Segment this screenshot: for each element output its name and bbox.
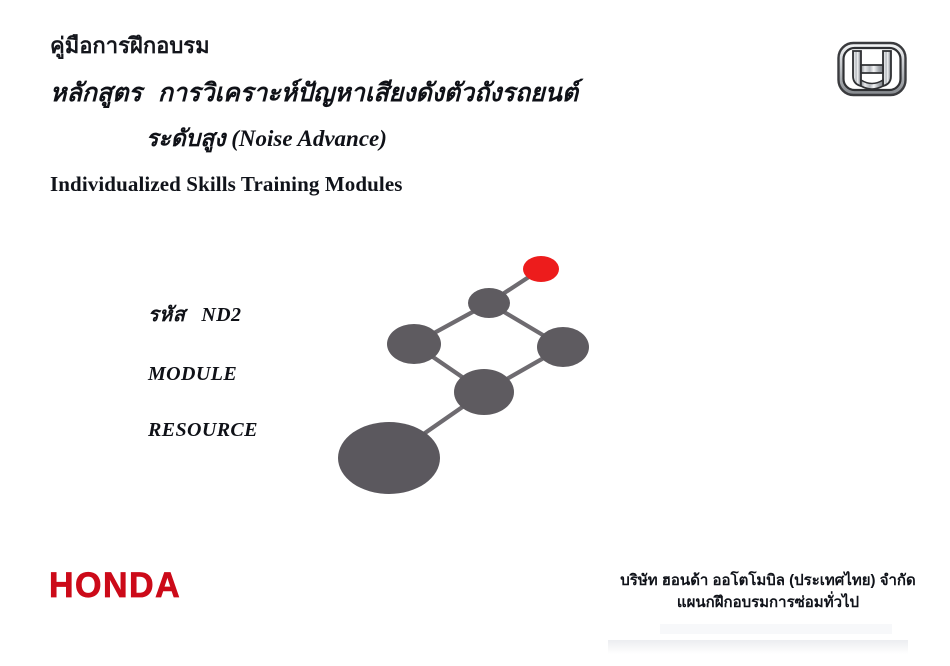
honda-h-emblem	[836, 40, 908, 98]
department-name-thai: แผนกฝึกอบรมการซ่อมทั่วไป	[600, 592, 936, 614]
course-level-thai: ระดับสูง	[146, 126, 226, 151]
node-group	[338, 256, 589, 494]
node-network-svg	[330, 240, 620, 510]
node-network-graphic	[330, 240, 620, 510]
subtitle-english: Individualized Skills Training Modules	[50, 173, 670, 196]
course-level-line: ระดับสูง (Noise Advance)	[50, 126, 670, 151]
emblem-h-right	[883, 51, 891, 86]
scan-artifact-lower	[608, 640, 908, 654]
manual-cover-page: คู่มือการฝึกอบรม หลักสูตรการวิเคราะห์ปัญ…	[0, 0, 950, 666]
node-right	[537, 327, 589, 367]
emblem-h-crossbar	[861, 65, 883, 73]
course-code-label: รหัส	[148, 304, 185, 326]
course-name-thai: การวิเคราะห์ปัญหาเสียงดังตัวถังรถยนต์	[158, 80, 578, 107]
company-name-thai: บริษัท ฮอนด้า ออโตโมบิล (ประเทศไทย) จำกั…	[600, 570, 936, 592]
course-label-thai: หลักสูตร	[50, 80, 142, 107]
node-accent	[523, 256, 559, 282]
honda-emblem-svg	[836, 40, 908, 98]
course-code-value: ND2	[201, 304, 241, 326]
honda-wordmark: HONDA	[49, 568, 219, 602]
course-level-english: (Noise Advance)	[231, 126, 387, 151]
footer-block: บริษัท ฮอนด้า ออโตโมบิล (ประเทศไทย) จำกั…	[600, 570, 936, 614]
node-center	[454, 369, 514, 415]
manual-kind-thai: คู่มือการฝึกอบรม	[50, 34, 670, 58]
node-left	[387, 324, 441, 364]
title-block: คู่มือการฝึกอบรม หลักสูตรการวิเคราะห์ปัญ…	[50, 34, 670, 196]
node-bottom-large	[338, 422, 440, 494]
course-title-line: หลักสูตรการวิเคราะห์ปัญหาเสียงดังตัวถังร…	[50, 80, 670, 108]
honda-wordmark-text: HONDA	[49, 568, 219, 603]
scan-artifact-upper	[660, 624, 892, 634]
node-top	[468, 288, 510, 318]
emblem-h-left	[853, 51, 861, 86]
